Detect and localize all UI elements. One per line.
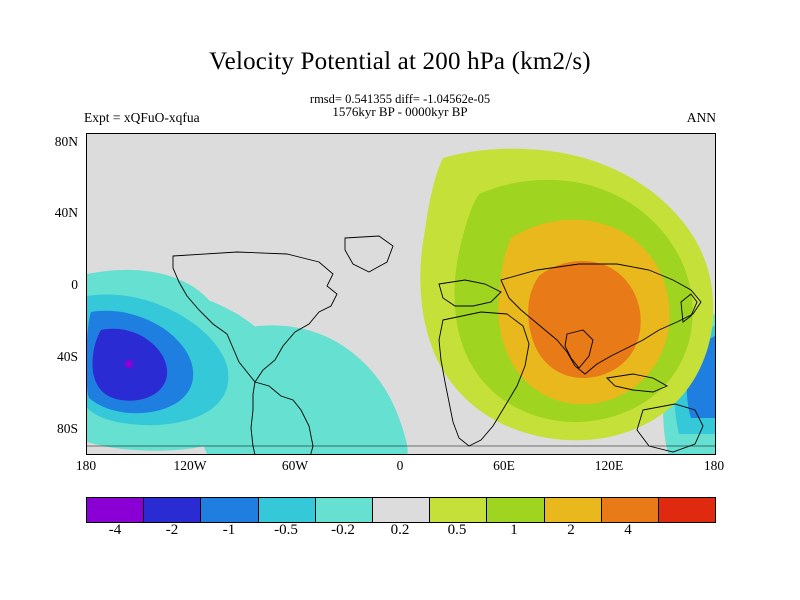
contour-pos-2 [528, 261, 641, 378]
colorbar-swatch [430, 498, 487, 522]
y-tick-label: 40S [18, 349, 78, 365]
y-tick-label: 40N [18, 205, 78, 221]
colorbar-tick-label: 4 [598, 522, 658, 539]
experiment-label: Expt = xQFuO-xqfua [84, 110, 200, 126]
y-tick-label: 80N [18, 134, 78, 150]
colorbar-tick-label: -0.2 [313, 522, 373, 539]
colorbar-swatch [487, 498, 544, 522]
y-tick-label: 0 [18, 277, 78, 293]
map-plot-area [86, 133, 716, 455]
page-title: Velocity Potential at 200 hPa (km2/s) [0, 48, 800, 76]
colorbar-swatch [659, 498, 715, 522]
x-tick-label: 180 [684, 458, 744, 474]
x-tick-label: 0 [370, 458, 430, 474]
x-tick-label: 60W [265, 458, 325, 474]
colorbar-swatch [316, 498, 373, 522]
contour-neg-4-core [125, 360, 133, 368]
colorbar-swatch [259, 498, 316, 522]
colorbar-tick-label: -1 [199, 522, 259, 539]
colorbar-swatch [373, 498, 430, 522]
colorbar-swatch [545, 498, 602, 522]
colorbar-tick-label: 0.2 [370, 522, 430, 539]
contour-map [87, 134, 715, 454]
colorbar-tick-label: -2 [142, 522, 202, 539]
colorbar-swatch [87, 498, 144, 522]
colorbar-tick-label: 0.5 [427, 522, 487, 539]
y-tick-label: 80S [18, 421, 78, 437]
colorbar-tick-label: -4 [85, 522, 145, 539]
x-tick-label: 180 [56, 458, 116, 474]
figure: Velocity Potential at 200 hPa (km2/s) rm… [0, 0, 800, 600]
x-tick-label: 120E [579, 458, 639, 474]
colorbar-swatch [201, 498, 258, 522]
colorbar-tick-label: -0.5 [256, 522, 316, 539]
colorbar-tick-label: 2 [541, 522, 601, 539]
colorbar-tick-label: 1 [484, 522, 544, 539]
colorbar [86, 497, 716, 523]
season-label: ANN [687, 110, 716, 126]
colorbar-swatch [144, 498, 201, 522]
x-tick-label: 60E [474, 458, 534, 474]
colorbar-swatch [602, 498, 659, 522]
x-tick-label: 120W [160, 458, 220, 474]
